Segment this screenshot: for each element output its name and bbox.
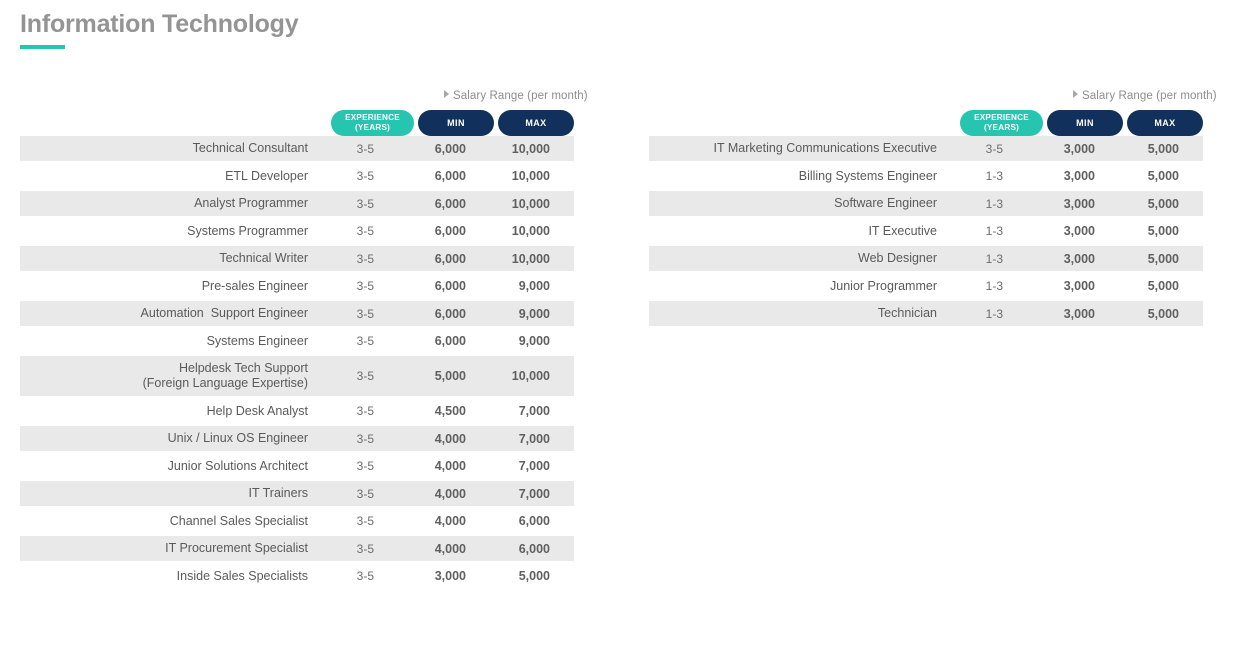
experience-cell: 3-5 [308, 369, 394, 383]
column-header-experience[interactable]: EXPERIENCE(YEARS) [331, 110, 414, 136]
salary-max-cell: 5,000 [1099, 224, 1179, 238]
salary-min-cell: 3,000 [1023, 279, 1099, 293]
experience-cell: 1-3 [937, 169, 1023, 183]
job-title-cell: IT Marketing Communications Executive [649, 141, 937, 156]
job-title-cell: Web Designer [649, 251, 937, 266]
table-row: Helpdesk Tech Support (Foreign Language … [20, 356, 574, 396]
experience-cell: 1-3 [937, 197, 1023, 211]
salary-min-cell: 4,000 [394, 487, 470, 501]
salary-table-right: Salary Range (per month) EXPERIENCE(YEAR… [649, 88, 1203, 329]
table-row: ETL Developer3-56,00010,000 [20, 164, 574, 189]
job-title-cell: IT Trainers [20, 486, 308, 501]
experience-label-line2: (YEARS) [984, 123, 1019, 132]
salary-max-cell: 5,000 [1099, 142, 1179, 156]
table-row: Unix / Linux OS Engineer3-54,0007,000 [20, 426, 574, 451]
salary-min-cell: 4,000 [394, 432, 470, 446]
experience-cell: 3-5 [937, 142, 1023, 156]
table-row: IT Trainers3-54,0007,000 [20, 481, 574, 506]
salary-min-cell: 6,000 [394, 279, 470, 293]
salary-min-cell: 3,000 [1023, 197, 1099, 211]
salary-max-cell: 9,000 [470, 279, 550, 293]
salary-min-cell: 3,000 [394, 569, 470, 583]
page-title: Information Technology [20, 10, 298, 39]
table-header: Salary Range (per month) EXPERIENCE(YEAR… [649, 88, 1203, 136]
triangle-right-icon [1073, 90, 1078, 98]
salary-max-cell: 6,000 [470, 514, 550, 528]
column-header-max[interactable]: MAX [498, 110, 574, 136]
experience-cell: 1-3 [937, 252, 1023, 266]
salary-range-label: Salary Range (per month) [1073, 90, 1217, 102]
experience-label-line2: (YEARS) [355, 123, 390, 132]
salary-max-cell: 7,000 [470, 432, 550, 446]
table-row: Analyst Programmer3-56,00010,000 [20, 191, 574, 216]
table-row: Systems Engineer3-56,0009,000 [20, 329, 574, 354]
experience-cell: 1-3 [937, 307, 1023, 321]
job-title-cell: IT Executive [649, 224, 937, 239]
job-title-cell: Systems Engineer [20, 334, 308, 349]
salary-max-cell: 10,000 [470, 224, 550, 238]
experience-cell: 1-3 [937, 279, 1023, 293]
experience-label-line1: EXPERIENCE [345, 113, 400, 122]
experience-cell: 3-5 [308, 542, 394, 556]
salary-min-cell: 4,000 [394, 542, 470, 556]
salary-max-cell: 5,000 [1099, 307, 1179, 321]
experience-label-line1: EXPERIENCE [974, 113, 1029, 122]
salary-range-text: Salary Range (per month) [453, 90, 588, 102]
job-title-cell: Software Engineer [649, 196, 937, 211]
job-title-cell: IT Procurement Specialist [20, 541, 308, 556]
salary-max-cell: 7,000 [470, 459, 550, 473]
job-title-cell: Help Desk Analyst [20, 404, 308, 419]
job-title-cell: Technical Writer [20, 251, 308, 266]
table-row: IT Procurement Specialist3-54,0006,000 [20, 536, 574, 561]
salary-max-cell: 5,000 [1099, 197, 1179, 211]
experience-cell: 3-5 [308, 334, 394, 348]
salary-max-cell: 5,000 [1099, 252, 1179, 266]
table-row: Software Engineer1-33,0005,000 [649, 191, 1203, 216]
experience-cell: 3-5 [308, 169, 394, 183]
job-title-cell: Analyst Programmer [20, 196, 308, 211]
salary-max-cell: 7,000 [470, 487, 550, 501]
salary-max-cell: 10,000 [470, 169, 550, 183]
experience-cell: 3-5 [308, 307, 394, 321]
salary-min-cell: 4,000 [394, 514, 470, 528]
salary-max-cell: 10,000 [470, 369, 550, 383]
experience-cell: 3-5 [308, 459, 394, 473]
salary-max-cell: 5,000 [470, 569, 550, 583]
experience-cell: 3-5 [308, 197, 394, 211]
salary-max-cell: 9,000 [470, 307, 550, 321]
salary-max-cell: 5,000 [1099, 169, 1179, 183]
experience-cell: 3-5 [308, 487, 394, 501]
table-rows: IT Marketing Communications Executive3-5… [649, 136, 1203, 326]
salary-min-cell: 4,500 [394, 404, 470, 418]
title-accent-rule [20, 45, 65, 49]
table-row: Inside Sales Specialists3-53,0005,000 [20, 564, 574, 589]
table-header: Salary Range (per month) EXPERIENCE(YEAR… [20, 88, 574, 136]
salary-table-left: Salary Range (per month) EXPERIENCE(YEAR… [20, 88, 574, 591]
job-title-cell: Pre-sales Engineer [20, 279, 308, 294]
salary-min-cell: 3,000 [1023, 252, 1099, 266]
job-title-cell: Junior Programmer [649, 279, 937, 294]
table-row: Junior Solutions Architect3-54,0007,000 [20, 454, 574, 479]
column-header-max[interactable]: MAX [1127, 110, 1203, 136]
column-header-min[interactable]: MIN [1047, 110, 1123, 136]
job-title-cell: ETL Developer [20, 169, 308, 184]
salary-min-cell: 6,000 [394, 252, 470, 266]
table-row: Pre-sales Engineer3-56,0009,000 [20, 274, 574, 299]
experience-cell: 3-5 [308, 279, 394, 293]
table-row: Technician1-33,0005,000 [649, 301, 1203, 326]
job-title-cell: Technical Consultant [20, 141, 308, 156]
column-header-min[interactable]: MIN [418, 110, 494, 136]
salary-min-cell: 6,000 [394, 197, 470, 211]
job-title-cell: Technician [649, 306, 937, 321]
job-title-cell: Unix / Linux OS Engineer [20, 431, 308, 446]
job-title-cell: Automation Support Engineer [20, 306, 308, 321]
table-row: Billing Systems Engineer1-33,0005,000 [649, 164, 1203, 189]
experience-cell: 3-5 [308, 514, 394, 528]
table-row: Junior Programmer1-33,0005,000 [649, 274, 1203, 299]
table-row: Help Desk Analyst3-54,5007,000 [20, 399, 574, 424]
salary-range-label: Salary Range (per month) [444, 90, 588, 102]
salary-min-cell: 3,000 [1023, 224, 1099, 238]
table-row: Technical Consultant3-56,00010,000 [20, 136, 574, 161]
salary-range-text: Salary Range (per month) [1082, 90, 1217, 102]
table-row: Automation Support Engineer3-56,0009,000 [20, 301, 574, 326]
salary-min-cell: 3,000 [1023, 307, 1099, 321]
table-row: Technical Writer3-56,00010,000 [20, 246, 574, 271]
salary-min-cell: 6,000 [394, 224, 470, 238]
salary-min-cell: 6,000 [394, 142, 470, 156]
salary-max-cell: 10,000 [470, 142, 550, 156]
job-title-cell: Helpdesk Tech Support (Foreign Language … [20, 361, 308, 391]
table-row: Systems Programmer3-56,00010,000 [20, 219, 574, 244]
salary-min-cell: 3,000 [1023, 169, 1099, 183]
salary-max-cell: 6,000 [470, 542, 550, 556]
salary-min-cell: 6,000 [394, 169, 470, 183]
table-row: IT Executive1-33,0005,000 [649, 219, 1203, 244]
table-rows: Technical Consultant3-56,00010,000ETL De… [20, 136, 574, 589]
job-title-cell: Channel Sales Specialist [20, 514, 308, 529]
salary-min-cell: 6,000 [394, 307, 470, 321]
job-title-cell: Systems Programmer [20, 224, 308, 239]
table-row: Channel Sales Specialist3-54,0006,000 [20, 509, 574, 534]
job-title-cell: Billing Systems Engineer [649, 169, 937, 184]
experience-cell: 3-5 [308, 404, 394, 418]
table-row: Web Designer1-33,0005,000 [649, 246, 1203, 271]
experience-cell: 3-5 [308, 569, 394, 583]
salary-min-cell: 6,000 [394, 334, 470, 348]
salary-max-cell: 5,000 [1099, 279, 1179, 293]
salary-min-cell: 3,000 [1023, 142, 1099, 156]
salary-max-cell: 7,000 [470, 404, 550, 418]
experience-cell: 1-3 [937, 224, 1023, 238]
salary-min-cell: 4,000 [394, 459, 470, 473]
salary-max-cell: 10,000 [470, 252, 550, 266]
experience-cell: 3-5 [308, 432, 394, 446]
salary-max-cell: 9,000 [470, 334, 550, 348]
column-header-experience[interactable]: EXPERIENCE(YEARS) [960, 110, 1043, 136]
salary-min-cell: 5,000 [394, 369, 470, 383]
salary-max-cell: 10,000 [470, 197, 550, 211]
experience-cell: 3-5 [308, 252, 394, 266]
experience-cell: 3-5 [308, 224, 394, 238]
table-row: IT Marketing Communications Executive3-5… [649, 136, 1203, 161]
experience-cell: 3-5 [308, 142, 394, 156]
job-title-cell: Inside Sales Specialists [20, 569, 308, 584]
triangle-right-icon [444, 90, 449, 98]
job-title-cell: Junior Solutions Architect [20, 459, 308, 474]
